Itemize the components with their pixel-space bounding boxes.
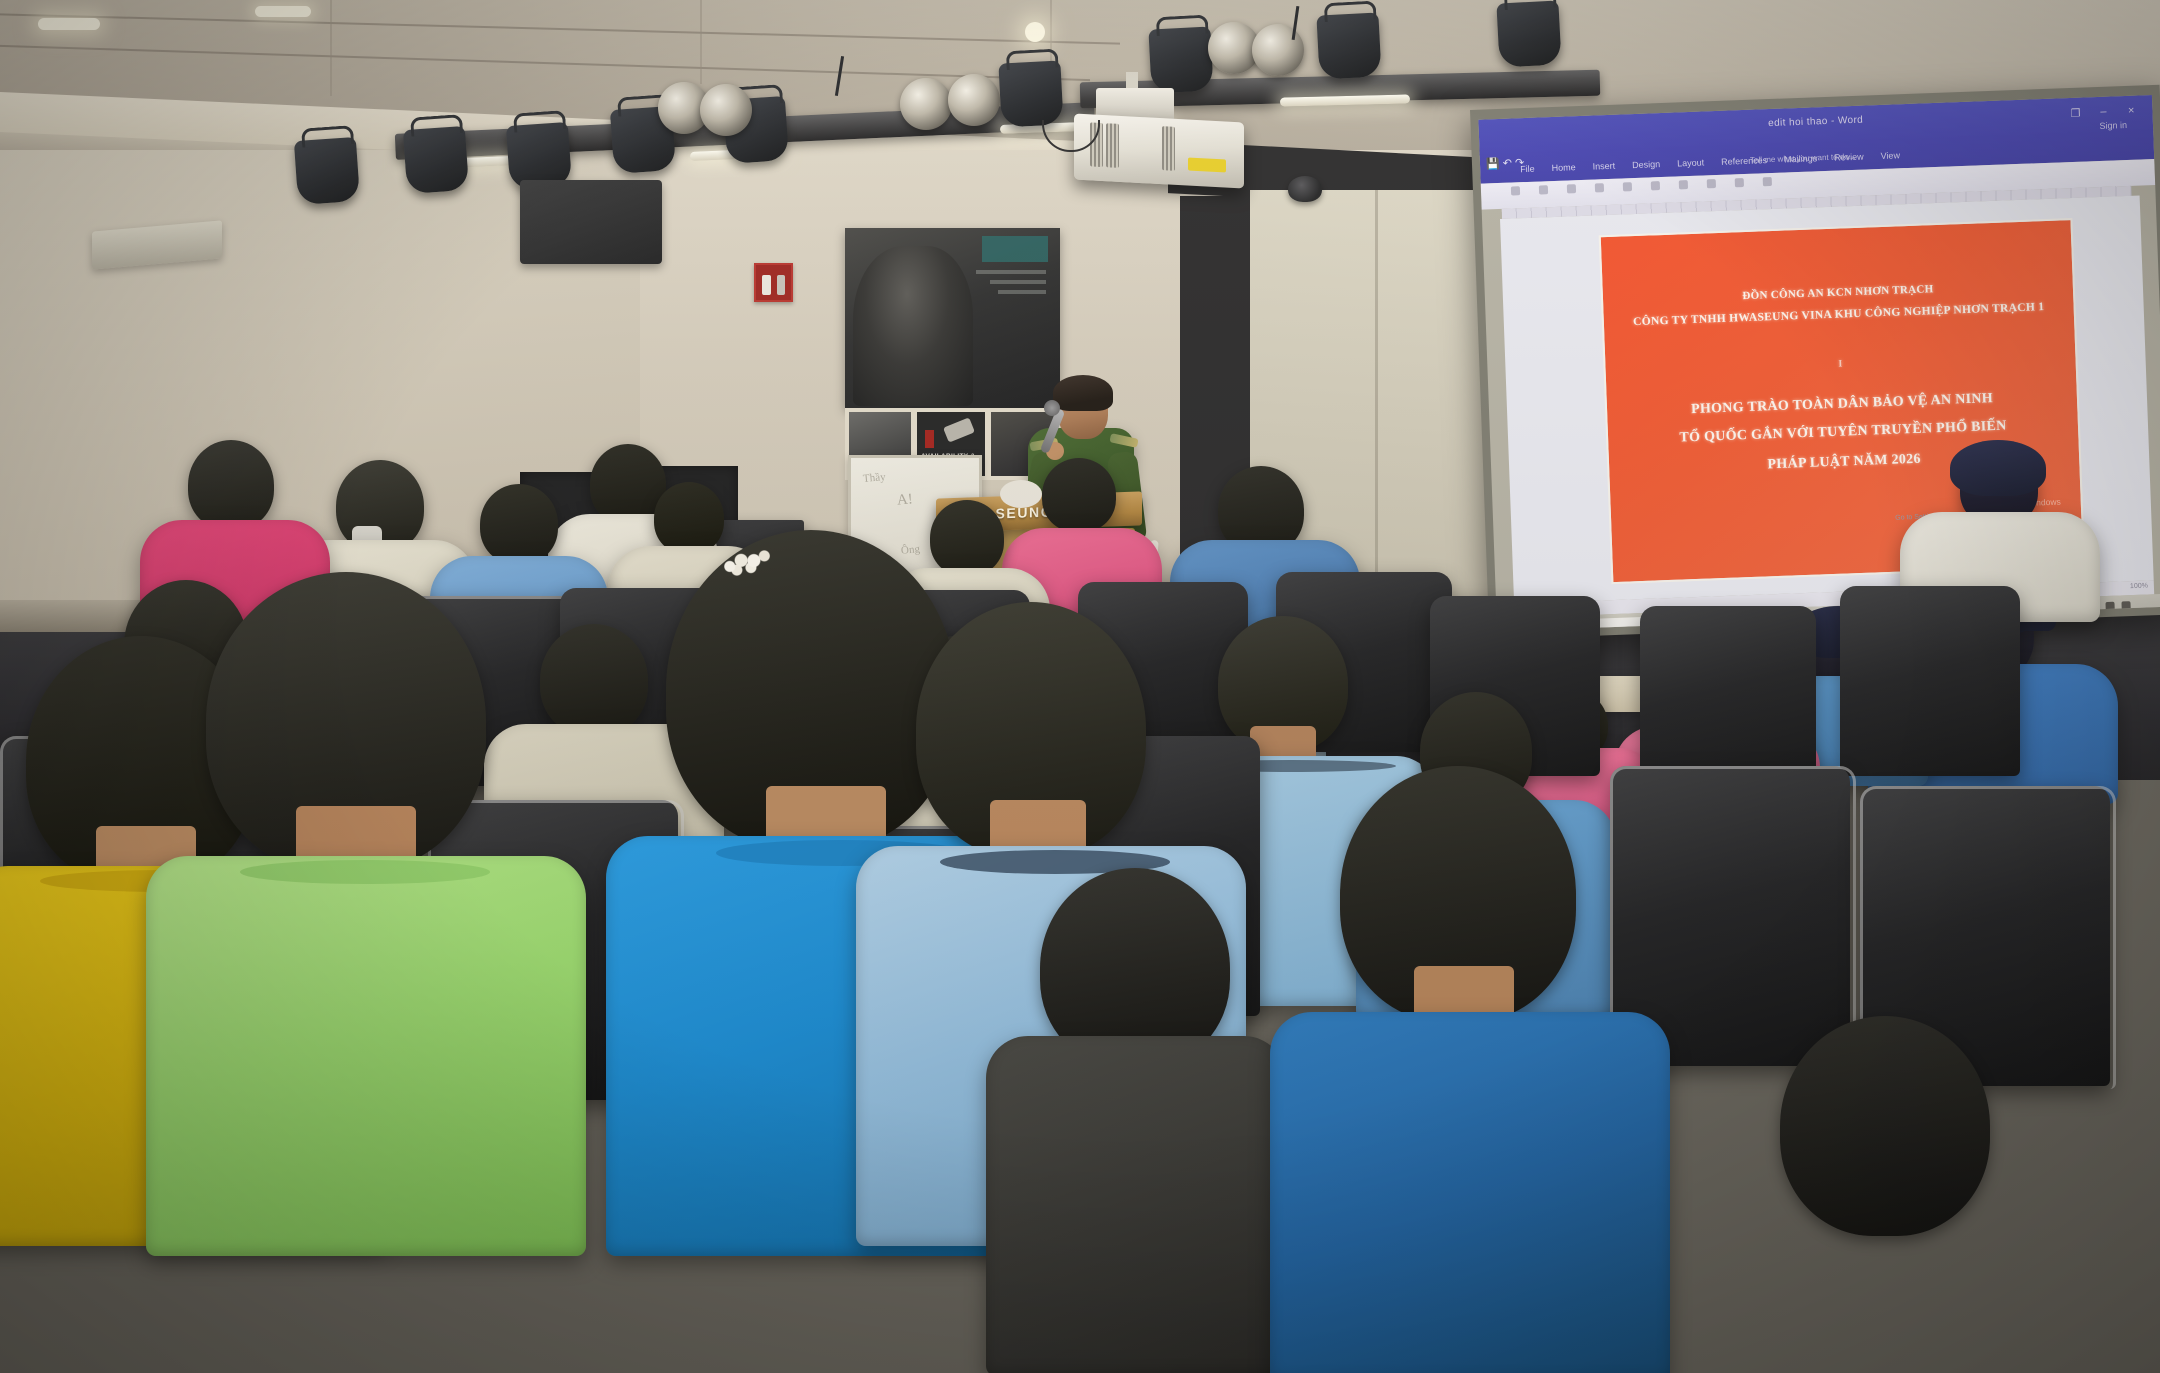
projector-label: [1188, 158, 1226, 173]
tab-insert[interactable]: Insert: [1593, 161, 1616, 172]
align-icon[interactable]: [1595, 183, 1604, 192]
fresnel-light: [900, 78, 952, 130]
audience-body: [986, 1036, 1286, 1373]
ceiling-panel-line: [330, 0, 332, 96]
close-icon[interactable]: ×: [2128, 105, 2135, 117]
find-icon[interactable]: [1735, 178, 1744, 187]
styles-icon[interactable]: [1707, 179, 1716, 188]
recessed-downlight: [255, 6, 311, 17]
poster-figure: [853, 246, 973, 406]
audience-head: [540, 624, 648, 736]
ime-icon[interactable]: [2121, 601, 2130, 610]
par-can-light: [1496, 0, 1561, 67]
audience-head: [654, 482, 724, 554]
par-can-light: [1148, 26, 1213, 93]
slide-title-line-1: PHONG TRÀO TOÀN DÂN BẢO VỆ AN NINH: [1607, 388, 2077, 421]
audience-body-green-shirt: [146, 856, 586, 1256]
restore-icon[interactable]: ❐: [2070, 107, 2080, 120]
par-can-light: [403, 126, 469, 194]
navy-cap: [1950, 440, 2046, 496]
ceiling-panel-line: [700, 0, 702, 84]
volume-icon[interactable]: [2105, 602, 2114, 611]
poster-text-lines: [998, 290, 1046, 294]
auditorium-chair: [1840, 586, 2020, 776]
audience-body-blue-shirt: [1270, 1012, 1670, 1373]
recessed-downlight: [38, 18, 100, 30]
polo-collar: [240, 860, 490, 884]
par-can-light: [998, 60, 1063, 127]
poster-text-lines: [990, 280, 1046, 284]
tab-layout[interactable]: Layout: [1677, 157, 1704, 168]
whiteboard-note-1: Thầy: [863, 471, 887, 485]
fresnel-light: [948, 74, 1000, 126]
numbering-icon[interactable]: [1651, 181, 1660, 190]
italic-icon[interactable]: [1539, 185, 1548, 194]
poster-red-mark: [925, 430, 934, 448]
audience-head: [930, 500, 1004, 576]
speaker-hair: [1053, 375, 1113, 411]
tab-design[interactable]: Design: [1632, 159, 1660, 170]
tab-file[interactable]: File: [1520, 164, 1535, 175]
wall-display-panel: [520, 180, 662, 264]
whiteboard-note-3: Ông: [901, 543, 921, 557]
bold-icon[interactable]: [1511, 186, 1520, 195]
poster-text-lines: [976, 270, 1046, 274]
recessed-downlight: [1025, 22, 1045, 42]
par-can-light: [1316, 12, 1381, 79]
tab-home[interactable]: Home: [1552, 162, 1576, 173]
audience-head: [1042, 458, 1116, 532]
audience-head: [188, 440, 274, 530]
indent-icon[interactable]: [1679, 180, 1688, 189]
quick-access-toolbar[interactable]: 💾 ↶ ↷: [1486, 156, 1525, 170]
bullets-icon[interactable]: [1623, 182, 1632, 191]
slide-divider: I: [1606, 350, 2076, 378]
minimize-icon[interactable]: –: [2100, 106, 2107, 118]
poster-hand-shape: [943, 417, 975, 442]
tab-view[interactable]: View: [1880, 150, 1900, 161]
fresnel-light: [700, 84, 752, 136]
audience-head: [480, 484, 558, 564]
replace-icon[interactable]: [1763, 177, 1772, 186]
whiteboard-note-2: A!: [896, 491, 913, 509]
dome-camera: [1288, 176, 1322, 202]
status-zoom-level: 100%: [2130, 582, 2148, 590]
conference-hall-photo: AVAILABILITY & RELIABILITY Thầy A! Ông: [0, 0, 2160, 1373]
microphone-head: [1044, 400, 1060, 416]
fresnel-light: [1252, 24, 1304, 76]
hair-scrunchie: [1000, 480, 1042, 508]
underline-icon[interactable]: [1567, 184, 1576, 193]
poster-teal-block: [982, 236, 1048, 262]
fire-extinguisher-sign: [754, 263, 793, 302]
audience-head: [1780, 1016, 1990, 1236]
par-can-light: [294, 137, 360, 205]
auditorium-chair: [1640, 606, 1816, 792]
wall-poster-main: [845, 228, 1060, 408]
